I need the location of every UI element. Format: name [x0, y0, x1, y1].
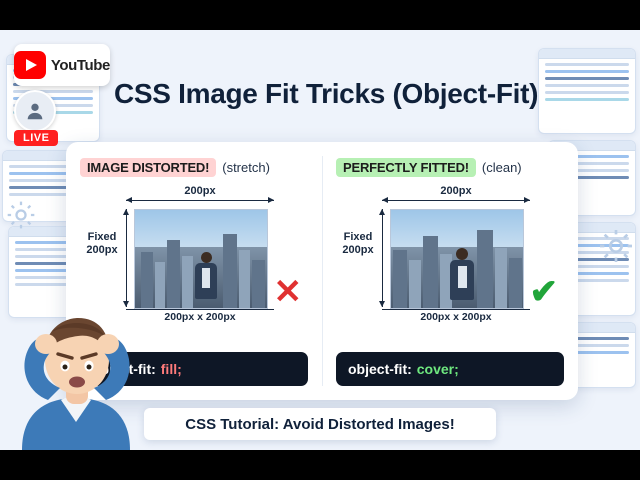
youtube-wordmark: YouTube — [51, 57, 110, 74]
dimension-side-fitted: Fixed 200px — [336, 231, 380, 257]
dimension-top-fitted: 200px — [382, 187, 530, 205]
dimension-arrow-horizontal — [126, 200, 274, 201]
code-value-cover: cover; — [417, 361, 459, 377]
avatar — [14, 90, 56, 132]
code-value-fill: fill; — [161, 361, 182, 377]
image-size-caption-fitted: 200px x 200px — [382, 311, 530, 323]
dimension-side-line1-fitted: Fixed — [336, 231, 380, 244]
code-property-cover: object-fit: — [348, 361, 412, 377]
dimension-side-distorted: Fixed 200px — [80, 231, 124, 257]
check-icon: ✔ — [530, 275, 559, 309]
dimension-side-line1-distorted: Fixed — [80, 231, 124, 244]
youtube-play-icon — [14, 51, 46, 79]
thumbnail-canvas: YouTube LIVE CSS Image Fit Tricks (Objec… — [0, 30, 640, 450]
gear-icon — [596, 226, 636, 266]
dimension-side-line2-distorted: 200px — [80, 244, 124, 257]
screenshot-stage: YouTube LIVE CSS Image Fit Tricks (Objec… — [0, 0, 640, 480]
dimension-arrow-vertical — [382, 209, 383, 307]
cross-icon: ✕ — [274, 275, 303, 309]
live-badge: LIVE — [14, 130, 58, 146]
bottom-caption-text: CSS Tutorial: Avoid Distorted Images! — [185, 416, 454, 433]
page-title: CSS Image Fit Tricks (Object-Fit) — [114, 78, 634, 110]
panel-fitted-header: PERFECTLY FITTED! (clean) — [336, 158, 564, 177]
frustrated-developer-illustration — [4, 288, 154, 450]
youtube-logo-badge: YouTube — [14, 44, 110, 86]
bottom-caption-bar: CSS Tutorial: Avoid Distorted Images! — [144, 408, 496, 440]
image-preview-covered — [390, 209, 524, 309]
dimension-arrow-horizontal — [382, 200, 530, 201]
image-preview-stretched — [134, 209, 268, 309]
panel-distorted-note: (stretch) — [222, 160, 270, 175]
dimension-side-line2-fitted: 200px — [336, 244, 380, 257]
panel-distorted-header: IMAGE DISTORTED! (stretch) — [80, 158, 308, 177]
letterbox-top — [0, 0, 640, 30]
dimension-top-distorted: 200px — [126, 187, 274, 205]
status-badge-fitted: PERFECTLY FITTED! — [336, 158, 476, 177]
status-badge-distorted: IMAGE DISTORTED! — [80, 158, 216, 177]
panel-fitted: PERFECTLY FITTED! (clean) 200px Fixed 20… — [322, 142, 578, 400]
dimension-top-label-distorted: 200px — [126, 185, 274, 197]
panel-fitted-note: (clean) — [482, 160, 522, 175]
diagram-fitted: 200px Fixed 200px — [336, 183, 564, 343]
caption-rule-fitted — [382, 309, 530, 310]
person-figure — [193, 252, 219, 306]
gear-icon — [4, 198, 38, 232]
dimension-top-label-fitted: 200px — [382, 185, 530, 197]
letterbox-bottom — [0, 450, 640, 480]
code-snippet-cover: object-fit: cover; — [336, 352, 564, 386]
person-figure — [447, 248, 475, 306]
